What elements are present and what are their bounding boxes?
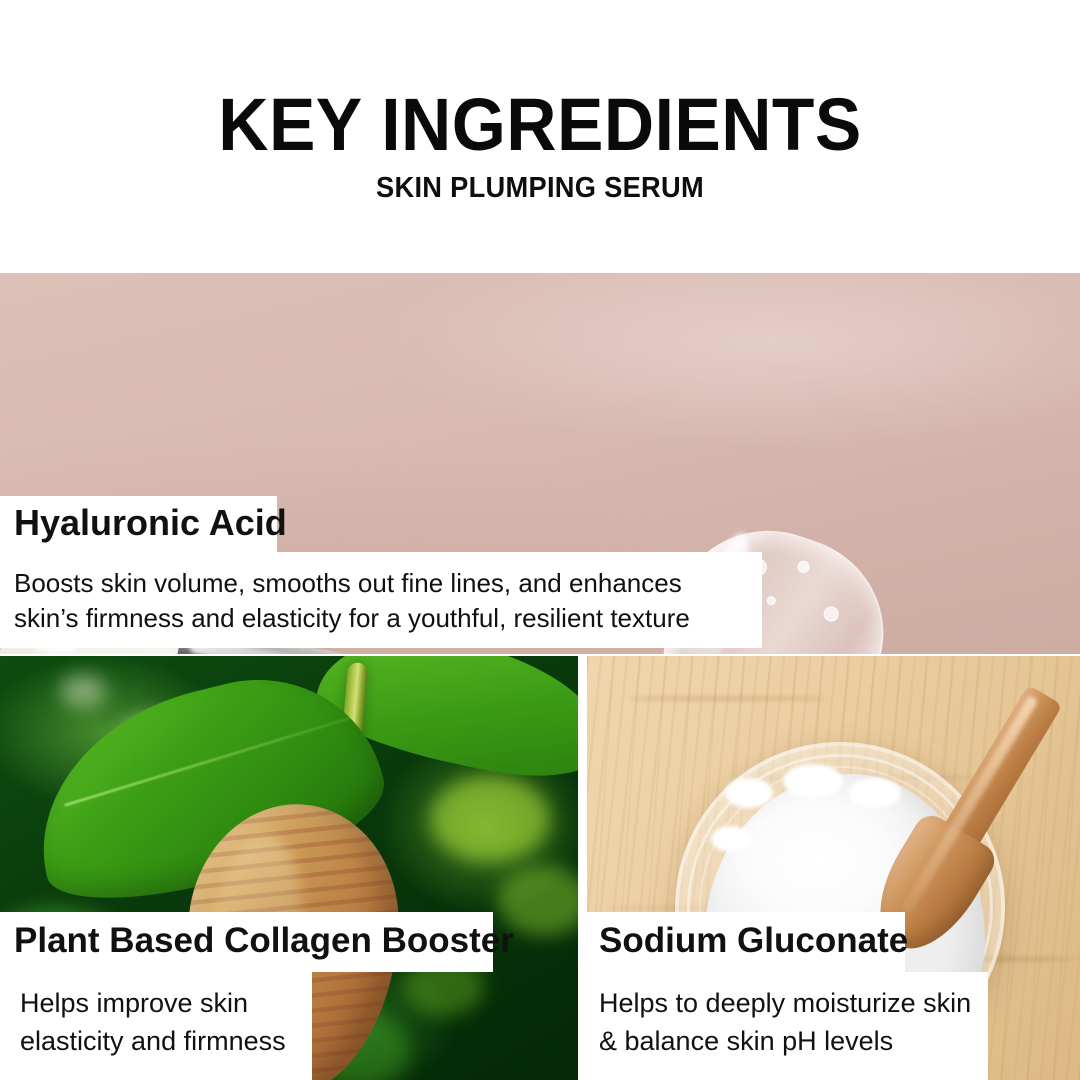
ingredient-name: Hyaluronic Acid (14, 505, 287, 541)
ingredient-description-box-sodium-gluconate: Helps to deeply moisturize skin & balanc… (587, 972, 988, 1080)
ingredient-name: Plant Based Collagen Booster (14, 923, 514, 958)
page-title: KEY INGREDIENTS (32, 88, 1047, 162)
ingredient-description-box-hyaluronic-acid: Boosts skin volume, smooths out fine lin… (0, 552, 762, 648)
ingredient-description: Helps to deeply moisturize skin & balanc… (599, 984, 981, 1061)
page-subtitle: SKIN PLUMPING SERUM (32, 174, 1047, 203)
header: KEY INGREDIENTS SKIN PLUMPING SERUM (0, 0, 1080, 273)
powder-lump (849, 778, 901, 808)
powder-lump (783, 764, 843, 798)
ingredient-title-box-plant-based-collagen-booster: Plant Based Collagen Booster (0, 912, 493, 972)
ingredient-title-box-sodium-gluconate: Sodium Gluconate (587, 912, 905, 972)
bokeh-blob (430, 776, 550, 862)
powder-lump (711, 826, 751, 852)
powder-lump (725, 778, 773, 808)
ingredient-title-box-hyaluronic-acid: Hyaluronic Acid (0, 496, 277, 552)
key-ingredients-infographic: KEY INGREDIENTS SKIN PLUMPING SERUM (0, 0, 1080, 1080)
ingredient-name: Sodium Gluconate (599, 923, 908, 958)
wood-grain (627, 696, 827, 701)
ingredient-description: Helps improve skin elasticity and firmne… (20, 984, 300, 1061)
ingredient-description: Boosts skin volume, smooths out fine lin… (14, 566, 750, 636)
ingredient-description-box-plant-based-collagen-booster: Helps improve skin elasticity and firmne… (0, 972, 312, 1080)
bokeh-blob (60, 674, 106, 708)
